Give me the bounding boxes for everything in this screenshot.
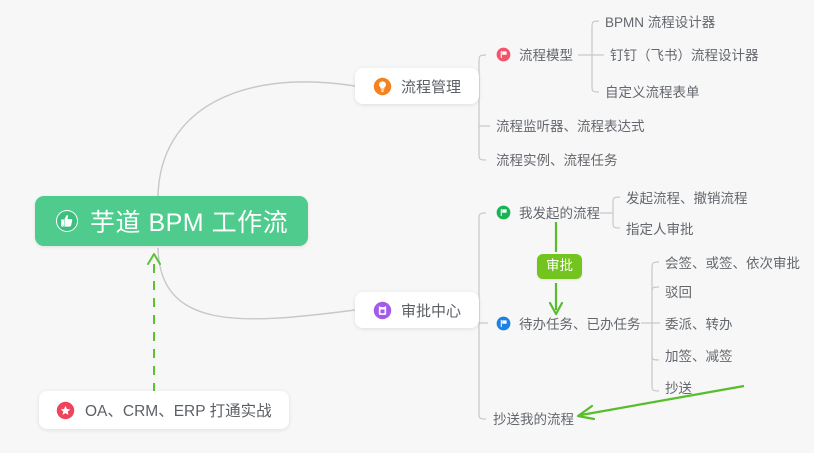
root-node-label: 芋道 BPM 工作流 <box>90 203 288 239</box>
node-todo-done-tasks[interactable]: 待办任务、已办任务 <box>488 311 649 337</box>
node-instance-task-label: 流程实例、流程任务 <box>496 149 618 169</box>
lightbulb-icon <box>373 77 392 96</box>
link-ac-to-myflows <box>479 213 486 220</box>
flag-icon <box>496 205 511 220</box>
node-delegate-transfer[interactable]: 委派、转办 <box>657 311 741 337</box>
flag-icon <box>496 316 511 331</box>
node-flow-model-label: 流程模型 <box>519 44 573 64</box>
node-listener-expression[interactable]: 流程监听器、流程表达式 <box>488 113 653 139</box>
node-add-remove-sign-label: 加签、减签 <box>665 345 733 365</box>
node-countersign[interactable]: 会签、或签、依次审批 <box>657 250 808 276</box>
node-assignee-approval[interactable]: 指定人审批 <box>618 216 702 242</box>
thumbs-up-icon <box>55 209 79 233</box>
node-cc-to-me-flows[interactable]: 抄送我的流程 <box>485 406 582 432</box>
node-listener-expression-label: 流程监听器、流程表达式 <box>496 115 645 135</box>
node-instance-task[interactable]: 流程实例、流程任务 <box>488 147 626 173</box>
node-custom-form[interactable]: 自定义流程表单 <box>597 79 708 105</box>
node-start-cancel-flow-label: 发起流程、撤销流程 <box>626 187 748 207</box>
node-dingtalk-designer[interactable]: 钉钉（飞书）流程设计器 <box>602 42 767 68</box>
node-delegate-transfer-label: 委派、转办 <box>665 313 733 333</box>
branch-approval-center-label: 审批中心 <box>401 300 461 321</box>
link-pm-to-flow-model <box>479 55 486 62</box>
branch-approval-center[interactable]: 审批中心 <box>355 292 479 328</box>
link-pm-to-instance <box>479 154 486 160</box>
node-bpmn-designer-label: BPMN 流程设计器 <box>605 11 715 31</box>
dashed-arrow-head <box>148 254 160 264</box>
annotation-approval-tag-label: 审批 <box>546 258 573 273</box>
branch-process-management-label: 流程管理 <box>401 76 461 97</box>
annotation-approval-tag: 审批 <box>537 254 582 279</box>
node-start-cancel-flow[interactable]: 发起流程、撤销流程 <box>618 185 756 211</box>
branch-process-management[interactable]: 流程管理 <box>355 68 479 104</box>
node-cc[interactable]: 抄送 <box>657 375 700 401</box>
node-countersign-label: 会签、或签、依次审批 <box>665 252 800 272</box>
flag-icon <box>496 47 511 62</box>
node-my-initiated-flows-label: 我发起的流程 <box>519 202 600 222</box>
root-node[interactable]: 芋道 BPM 工作流 <box>35 196 308 246</box>
star-icon <box>56 401 75 420</box>
node-my-initiated-flows[interactable]: 我发起的流程 <box>488 200 608 226</box>
node-dingtalk-designer-label: 钉钉（飞书）流程设计器 <box>610 44 759 64</box>
node-assignee-approval-label: 指定人审批 <box>626 218 694 238</box>
link-root-to-process-management <box>158 82 355 196</box>
node-cc-to-me-flows-label: 抄送我的流程 <box>493 408 574 428</box>
mindmap-canvas: 芋道 BPM 工作流 流程管理 流程模型 BPMN 流程设计器 钉钉（飞书）流程… <box>0 0 814 453</box>
link-root-to-approval-center <box>158 248 355 319</box>
node-bpmn-designer[interactable]: BPMN 流程设计器 <box>597 9 723 35</box>
floating-node-oa-crm-erp-label: OA、CRM、ERP 打通实战 <box>85 399 272 421</box>
node-todo-done-tasks-label: 待办任务、已办任务 <box>519 313 641 333</box>
floating-node-oa-crm-erp[interactable]: OA、CRM、ERP 打通实战 <box>39 391 289 429</box>
node-add-remove-sign[interactable]: 加签、减签 <box>657 343 741 369</box>
node-flow-model[interactable]: 流程模型 <box>488 42 581 68</box>
node-reject-label: 驳回 <box>665 281 692 301</box>
node-reject[interactable]: 驳回 <box>657 279 700 305</box>
node-cc-label: 抄送 <box>665 377 692 397</box>
clipboard-icon <box>373 301 392 320</box>
node-custom-form-label: 自定义流程表单 <box>605 81 700 101</box>
